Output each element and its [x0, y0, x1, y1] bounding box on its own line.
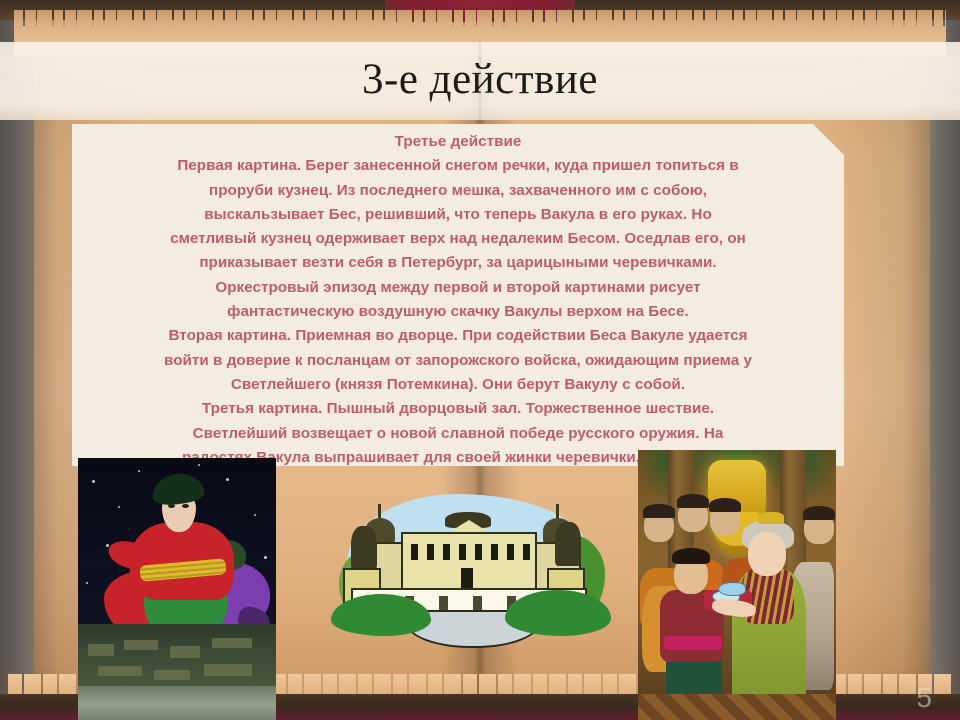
- city-block: [88, 644, 114, 656]
- synopsis-line: Светлейший возвещает о новой славной поб…: [86, 422, 830, 446]
- tsaritsa-crown: [758, 512, 784, 524]
- synopsis-heading: Третье действие: [86, 130, 830, 154]
- window: [523, 544, 530, 560]
- page-title: 3-е действие: [0, 48, 960, 112]
- content-text-box: Третье действие Первая картина. Берег за…: [72, 124, 844, 466]
- star: [92, 480, 95, 483]
- synopsis-line: сметливый кузнец одерживает верх над нед…: [86, 227, 830, 251]
- synopsis-line: фантастическую воздушную скачку Вакулы в…: [86, 300, 830, 324]
- cossack-hair: [803, 506, 835, 520]
- window: [491, 544, 498, 560]
- star: [226, 478, 229, 481]
- synopsis-line: Вторая картина. Приемная во дворце. При …: [86, 324, 830, 348]
- synopsis-line: Первая картина. Берег занесенной снегом …: [86, 154, 830, 178]
- synopsis-line: Оркестровый эпизод между первой и второй…: [86, 276, 830, 300]
- window: [507, 544, 514, 560]
- star: [138, 470, 140, 472]
- window: [411, 544, 418, 560]
- cossack-hair: [709, 498, 741, 512]
- page-number: 5: [916, 682, 932, 714]
- synopsis-line: Светлейшего (князя Потемкина). Они берут…: [86, 373, 830, 397]
- vakula-sash: [664, 636, 722, 650]
- window: [459, 544, 466, 560]
- star: [264, 556, 267, 559]
- city-river: [78, 686, 276, 720]
- window: [443, 544, 450, 560]
- synopsis-line: проруби кузнец. Из последнего мешка, зах…: [86, 179, 830, 203]
- cossack-hair: [643, 504, 675, 518]
- synopsis-line: войти в доверие к посланцам от запорожск…: [86, 349, 830, 373]
- parquet-floor: [638, 694, 836, 720]
- vakula-hat: [672, 548, 710, 564]
- statue-left: [351, 526, 377, 570]
- royal-slipper: [718, 582, 746, 596]
- statue-right: [555, 522, 581, 566]
- night-city: [78, 624, 276, 720]
- window: [475, 544, 482, 560]
- synopsis-line: приказывает везти себя в Петербург, за ц…: [86, 251, 830, 275]
- image-palace-clipart: [295, 470, 639, 682]
- image-vakula-riding-devil: [78, 458, 276, 720]
- city-block: [98, 666, 142, 676]
- star: [118, 506, 120, 508]
- star: [86, 582, 88, 584]
- tsaritsa-face: [748, 532, 786, 576]
- image-tsaritsa-and-vakula: [638, 450, 836, 720]
- slide-canvas: 3-е действие Третье действие Первая карт…: [0, 0, 960, 720]
- city-block: [170, 646, 200, 658]
- cossack-hair: [677, 494, 709, 508]
- window: [427, 544, 434, 560]
- city-block: [124, 640, 158, 650]
- synopsis-line: выскальзывает Бес, решивший, что теперь …: [86, 203, 830, 227]
- star: [198, 464, 200, 466]
- city-block: [212, 638, 252, 648]
- palace-main-block: [401, 532, 537, 596]
- city-block: [204, 664, 252, 676]
- synopsis-text: Третье действие Первая картина. Берег за…: [86, 130, 830, 494]
- synopsis-line: Третья картина. Пышный дворцовый зал. То…: [86, 397, 830, 421]
- star: [254, 514, 256, 516]
- vakula-eye: [182, 504, 189, 508]
- city-block: [154, 670, 190, 680]
